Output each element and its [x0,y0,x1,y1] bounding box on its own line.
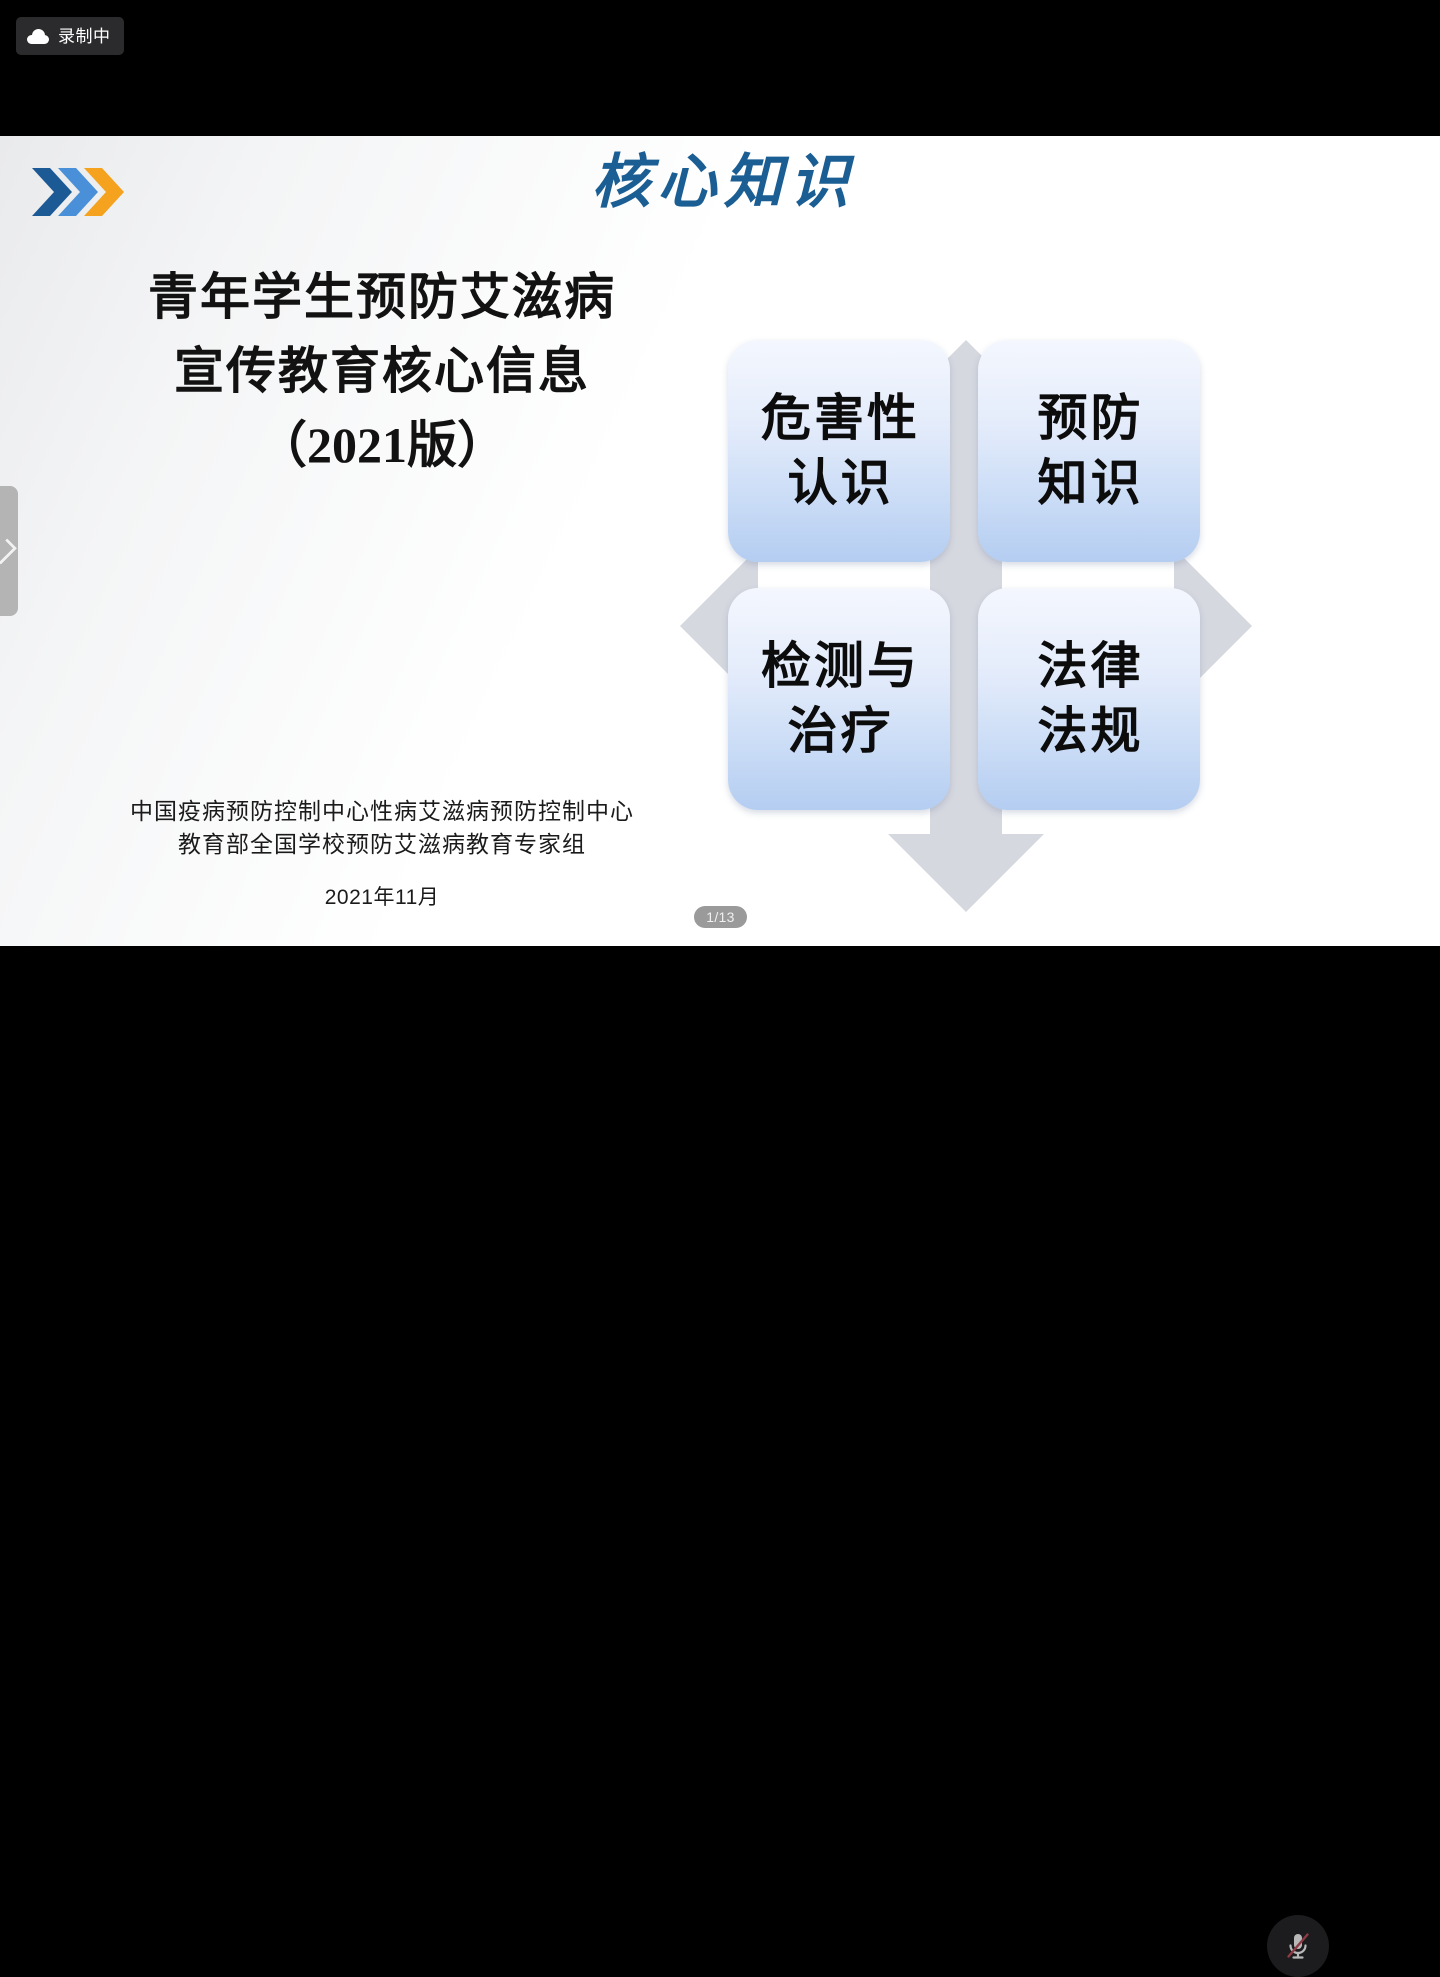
quadrant-line: 法规 [1035,699,1144,764]
microphone-muted-icon [1281,1929,1315,1963]
credits-line-1: 中国疫病预防控制中心性病艾滋病预防控制中心 [62,796,702,829]
quadrant-box-laws-regulations[interactable]: 法律 法规 [978,588,1200,810]
slide-credits: 中国疫病预防控制中心性病艾滋病预防控制中心 教育部全国学校预防艾滋病教育专家组 … [62,796,702,913]
recording-label: 录制中 [58,28,111,45]
meeting-screen-share-view: 录制中 核心知识 青年学生预防艾滋病 宣传教育核心信息 （2021版） 中国疫病… [0,0,1440,1080]
slide-headline: 青年学生预防艾滋病 宣传教育核心信息 （2021版） [62,260,702,482]
quadrant-line: 检测与 [758,634,920,699]
side-drawer-handle[interactable] [0,486,18,616]
quadrant-box-testing-treatment[interactable]: 检测与 治疗 [728,588,950,810]
credits-date: 2021年11月 [62,883,702,913]
headline-line-2: 宣传教育核心信息 [62,334,702,408]
credits-line-2: 教育部全国学校预防艾滋病教育专家组 [62,829,702,862]
recording-badge: 录制中 [16,17,124,55]
quadrant-line: 治疗 [785,699,894,764]
headline-line-3: （2021版） [62,408,702,482]
page-indicator: 1/13 [694,906,747,928]
quadrant-line: 预防 [1035,386,1144,451]
presentation-slide[interactable]: 核心知识 青年学生预防艾滋病 宣传教育核心信息 （2021版） 中国疫病预防控制… [0,136,1440,946]
meeting-control-bar [0,946,1440,1080]
quadrant-box-prevention-knowledge[interactable]: 预防 知识 [978,340,1200,562]
mute-toggle-button[interactable] [1267,1915,1329,1977]
quadrant-box-harm-awareness[interactable]: 危害性 认识 [728,340,950,562]
quadrant-line: 知识 [1035,451,1144,516]
chevron-right-icon [0,538,17,564]
cloud-icon [27,29,49,44]
quadrant-line: 认识 [785,451,894,516]
four-quadrant-diagram: 危害性 认识 预防 知识 检测与 治疗 法律 法规 [672,332,1260,920]
slide-header-title: 核心知识 [0,146,1440,220]
quadrant-line: 危害性 [758,386,920,451]
quadrant-line: 法律 [1035,634,1144,699]
headline-line-1: 青年学生预防艾滋病 [62,260,702,334]
